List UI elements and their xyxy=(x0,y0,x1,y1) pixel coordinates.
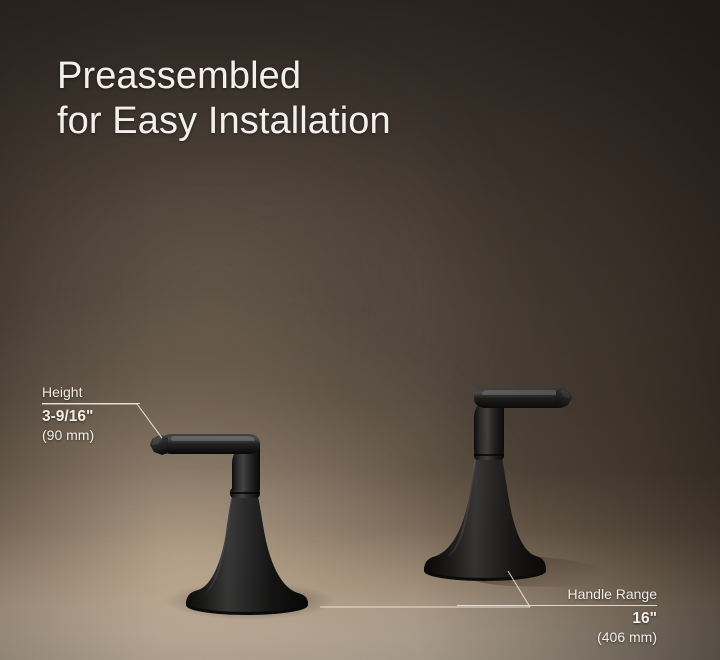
callout-height-value: 3-9/16" xyxy=(42,407,140,426)
headline: Preassembled for Easy Installation xyxy=(57,54,391,144)
callout-height-metric: (90 mm) xyxy=(42,426,140,444)
callout-height-label: Height xyxy=(42,384,140,401)
headline-line-1: Preassembled xyxy=(57,54,391,99)
callout-height-rule xyxy=(42,403,140,404)
product-image-scene: Preassembled for Easy Installation Heigh… xyxy=(0,0,720,660)
callout-handle-range: Handle Range 16" (406 mm) xyxy=(457,586,657,646)
callout-height: Height 3-9/16" (90 mm) xyxy=(42,384,140,444)
callout-handle-range-metric: (406 mm) xyxy=(457,628,657,646)
callout-handle-range-rule xyxy=(457,605,657,606)
callout-handle-range-value: 16" xyxy=(457,609,657,628)
callout-handle-range-label: Handle Range xyxy=(457,586,657,603)
headline-line-2: for Easy Installation xyxy=(57,99,391,144)
